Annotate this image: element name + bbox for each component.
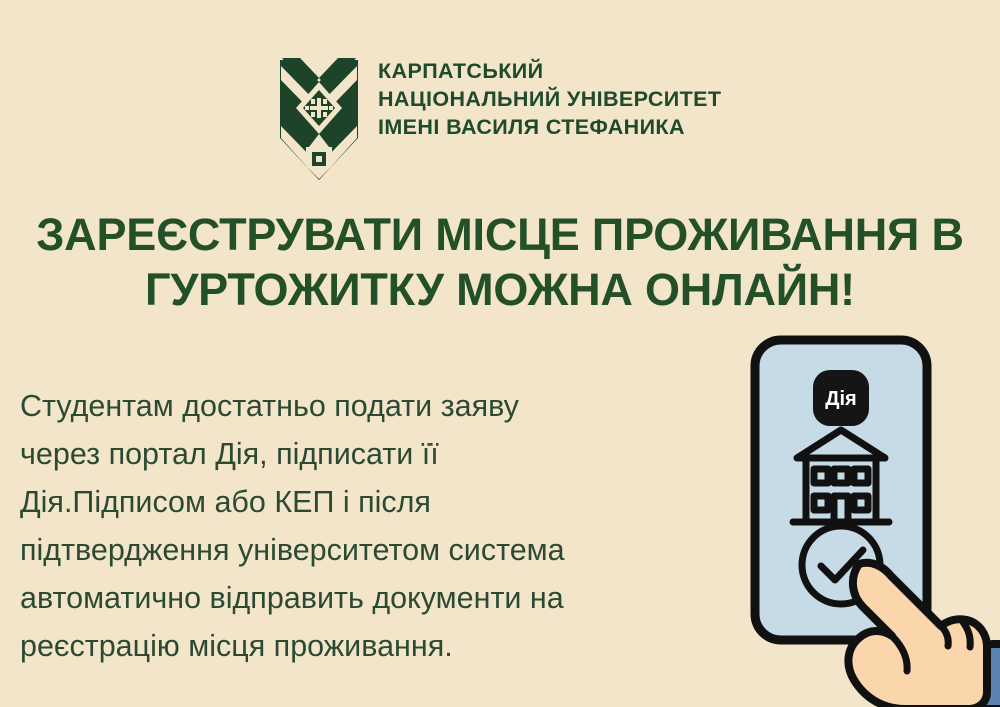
dia-app-icon: Дія: [813, 370, 869, 426]
body-line-1: Студентам достатньо подати заяву: [20, 382, 730, 430]
body-line-5: автоматично відправить документи на: [20, 574, 730, 622]
body-line-2: через портал Дія, підписати її: [20, 430, 730, 478]
body-text: Студентам достатньо подати заяву через п…: [20, 382, 730, 670]
logo-line-3: ІМЕНІ ВАСИЛЯ СТЕФАНИКА: [378, 114, 721, 142]
headline-line-1: ЗАРЕЄСТРУВАТИ МІСЦЕ ПРОЖИВАННЯ В: [14, 208, 986, 263]
phone-illustration: Дія: [735, 326, 1000, 707]
dia-app-label: Дія: [825, 388, 856, 410]
university-logo: КАРПАТСЬКИЙ НАЦІОНАЛЬНИЙ УНІВЕРСИТЕТ ІМЕ…: [278, 42, 721, 182]
headline: ЗАРЕЄСТРУВАТИ МІСЦЕ ПРОЖИВАННЯ В ГУРТОЖИ…: [0, 208, 1000, 318]
university-logo-text: КАРПАТСЬКИЙ НАЦІОНАЛЬНИЙ УНІВЕРСИТЕТ ІМЕ…: [378, 42, 721, 142]
body-line-6: реєстрацію місця проживання.: [20, 622, 730, 670]
logo-line-1: КАРПАТСЬКИЙ: [378, 58, 721, 86]
phone-with-hand-illustration: Дія: [735, 326, 1000, 707]
poster: КАРПАТСЬКИЙ НАЦІОНАЛЬНИЙ УНІВЕРСИТЕТ ІМЕ…: [0, 0, 1000, 707]
university-emblem-icon: [278, 42, 360, 182]
body-line-4: підтвердження університетом система: [20, 526, 730, 574]
logo-line-2: НАЦІОНАЛЬНИЙ УНІВЕРСИТЕТ: [378, 86, 721, 114]
headline-line-2: ГУРТОЖИТКУ МОЖНА ОНЛАЙН!: [14, 263, 986, 318]
body-line-3: Дія.Підписом або КЕП і після: [20, 478, 730, 526]
